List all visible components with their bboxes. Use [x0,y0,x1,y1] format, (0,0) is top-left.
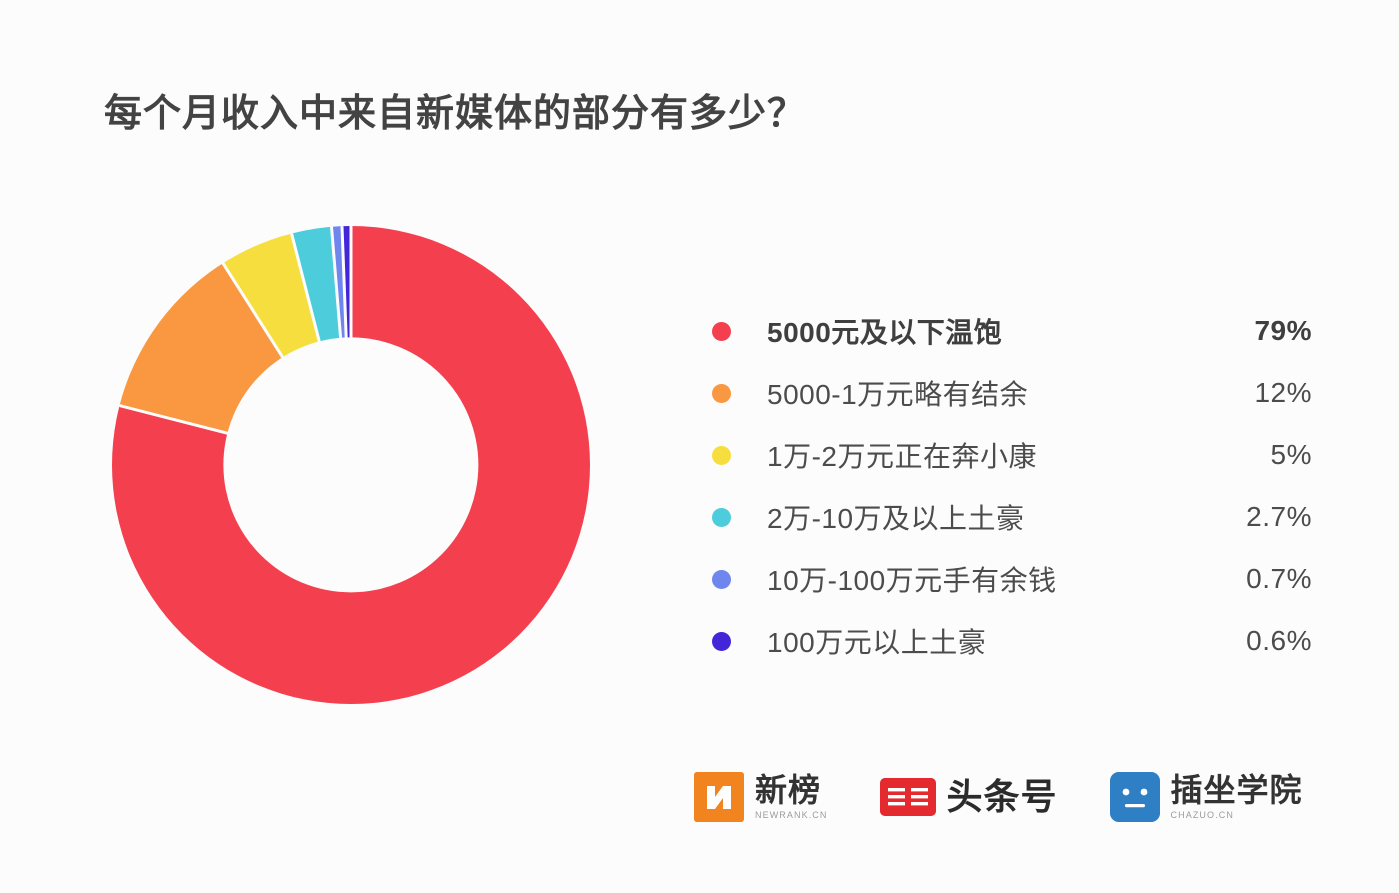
logo-chazuo: 插坐学院 CHAZUO.CN [1110,772,1303,822]
legend-row[interactable]: 10万-100万元手有余钱0.7% [712,548,1312,610]
chart-legend: 5000元及以下温饱79%5000-1万元略有结余12%1万-2万元正在奔小康5… [712,300,1312,672]
legend-value: 2.7% [1194,501,1312,533]
legend-color-dot [712,570,731,589]
legend-row[interactable]: 100万元以上土豪0.6% [712,610,1312,672]
legend-value: 79% [1194,315,1312,347]
logo-toutiaohao-text: 头条号 [947,779,1058,815]
legend-label: 10万-100万元手有余钱 [767,559,1194,599]
toutiao-icon [880,778,936,816]
legend-label: 100万元以上土豪 [767,621,1194,661]
logo-chazuo-sub: CHAZUO.CN [1171,811,1303,820]
legend-value: 0.6% [1194,625,1312,657]
legend-label: 2万-10万及以上土豪 [767,497,1194,537]
slide-canvas: 每个月收入中来自新媒体的部分有多少？ 5000元及以下温饱79%5000-1万元… [0,0,1399,893]
legend-color-dot [712,446,731,465]
footer-logos: 新榜 NEWRANK.CN 头条 [694,772,1303,822]
legend-color-dot [712,508,731,527]
legend-label: 5000-1万元略有结余 [767,373,1194,413]
donut-chart [112,226,590,704]
legend-value: 0.7% [1194,563,1312,595]
newrank-n-icon [694,772,744,822]
logo-newrank-name: 新榜 [755,774,828,806]
legend-row[interactable]: 5000元及以下温饱79% [712,300,1312,362]
legend-color-dot [712,384,731,403]
legend-row[interactable]: 5000-1万元略有结余12% [712,362,1312,424]
logo-toutiaohao: 头条号 [880,778,1058,816]
legend-label: 1万-2万元正在奔小康 [767,435,1194,475]
legend-color-dot [712,632,731,651]
legend-row[interactable]: 1万-2万元正在奔小康5% [712,424,1312,486]
legend-label: 5000元及以下温饱 [767,311,1194,351]
donut-center-hole [223,337,478,592]
logo-toutiaohao-name: 头条号 [947,779,1058,815]
legend-value: 12% [1194,377,1312,409]
logo-newrank-text: 新榜 NEWRANK.CN [755,774,828,820]
chazuo-icon [1110,772,1160,822]
legend-color-dot [712,322,731,341]
logo-chazuo-name: 插坐学院 [1171,774,1303,806]
legend-row[interactable]: 2万-10万及以上土豪2.7% [712,486,1312,548]
page-title: 每个月收入中来自新媒体的部分有多少？ [104,82,806,137]
logo-newrank: 新榜 NEWRANK.CN [694,772,828,822]
logo-chazuo-text: 插坐学院 CHAZUO.CN [1171,774,1303,820]
logo-newrank-sub: NEWRANK.CN [755,811,828,820]
legend-value: 5% [1194,439,1312,471]
